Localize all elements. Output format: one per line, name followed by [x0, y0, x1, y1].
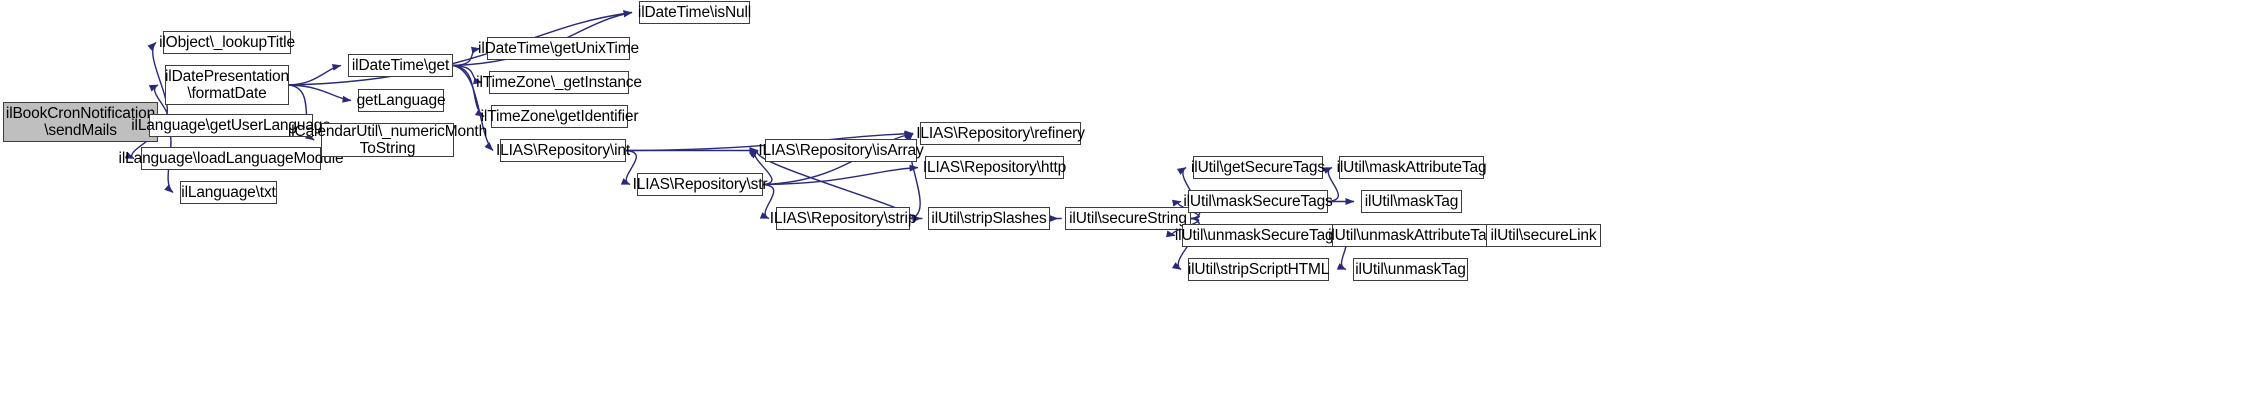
edge-repoStr-to-repoHttp — [763, 168, 918, 185]
graph-node-isNull[interactable]: ilDateTime\isNull — [639, 1, 750, 24]
graph-node-repoRefinery[interactable]: ILIAS\Repository\refinery — [920, 122, 1081, 145]
graph-node-secureLink[interactable]: ilUtil\secureLink — [1486, 224, 1601, 247]
call-graph-canvas: ilBookCronNotification \sendMailsilObjec… — [0, 0, 2267, 417]
graph-node-numericMonth[interactable]: ilCalendarUtil\_numericMonth ToString — [321, 123, 454, 157]
graph-node-stripSlashes[interactable]: ilUtil\stripSlashes — [928, 207, 1050, 230]
edge-formatDate-to-getLanguage — [289, 85, 351, 101]
graph-node-dtGet[interactable]: ilDateTime\get — [348, 54, 453, 77]
graph-node-repoInt[interactable]: ILIAS\Repository\int — [500, 139, 626, 162]
graph-node-maskAttributeTag[interactable]: ilUtil\maskAttributeTag — [1339, 156, 1484, 179]
graph-node-secureString[interactable]: ilUtil\secureString — [1065, 207, 1191, 230]
graph-node-repoIsArray[interactable]: ILIAS\Repository\isArray — [765, 139, 917, 162]
graph-node-maskTag[interactable]: ilUtil\maskTag — [1361, 190, 1462, 213]
graph-node-getUnixTime[interactable]: ilDateTime\getUnixTime — [487, 37, 630, 60]
graph-node-repoHttp[interactable]: ILIAS\Repository\http — [925, 156, 1064, 179]
graph-node-tzGetIdentifier[interactable]: ilTimeZone\getIdentifier — [491, 105, 628, 128]
graph-node-getLanguage[interactable]: getLanguage — [358, 89, 444, 112]
graph-node-maskSecureTags[interactable]: ilUtil\maskSecureTags — [1188, 190, 1328, 213]
graph-node-txt[interactable]: ilLanguage\txt — [180, 181, 277, 204]
edge-dtGet-to-getUnixTime — [453, 49, 480, 66]
graph-node-repoStrip[interactable]: ILIAS\Repository\strip — [776, 207, 910, 230]
graph-node-repoStr[interactable]: ILIAS\Repository\str — [637, 173, 763, 196]
graph-node-unmaskTag[interactable]: ilUtil\unmaskTag — [1353, 258, 1468, 281]
graph-node-tzGetInstance[interactable]: ilTimeZone\_getInstance — [489, 71, 629, 94]
graph-node-stripScriptHTML[interactable]: ilUtil\stripScriptHTML — [1188, 258, 1329, 281]
graph-node-unmaskAttrTag[interactable]: ilUtil\unmaskAttributeTag — [1332, 224, 1491, 247]
graph-node-formatDate[interactable]: ilDatePresentation \formatDate — [165, 65, 289, 105]
graph-node-lookupTitle[interactable]: ilObject\_lookupTitle — [163, 31, 291, 54]
graph-node-getSecureTags[interactable]: ilUtil\getSecureTags — [1193, 156, 1323, 179]
edge-formatDate-to-dtGet — [289, 66, 341, 86]
graph-node-unmaskSecureTags[interactable]: ilUtil\unmaskSecureTags — [1182, 224, 1334, 247]
